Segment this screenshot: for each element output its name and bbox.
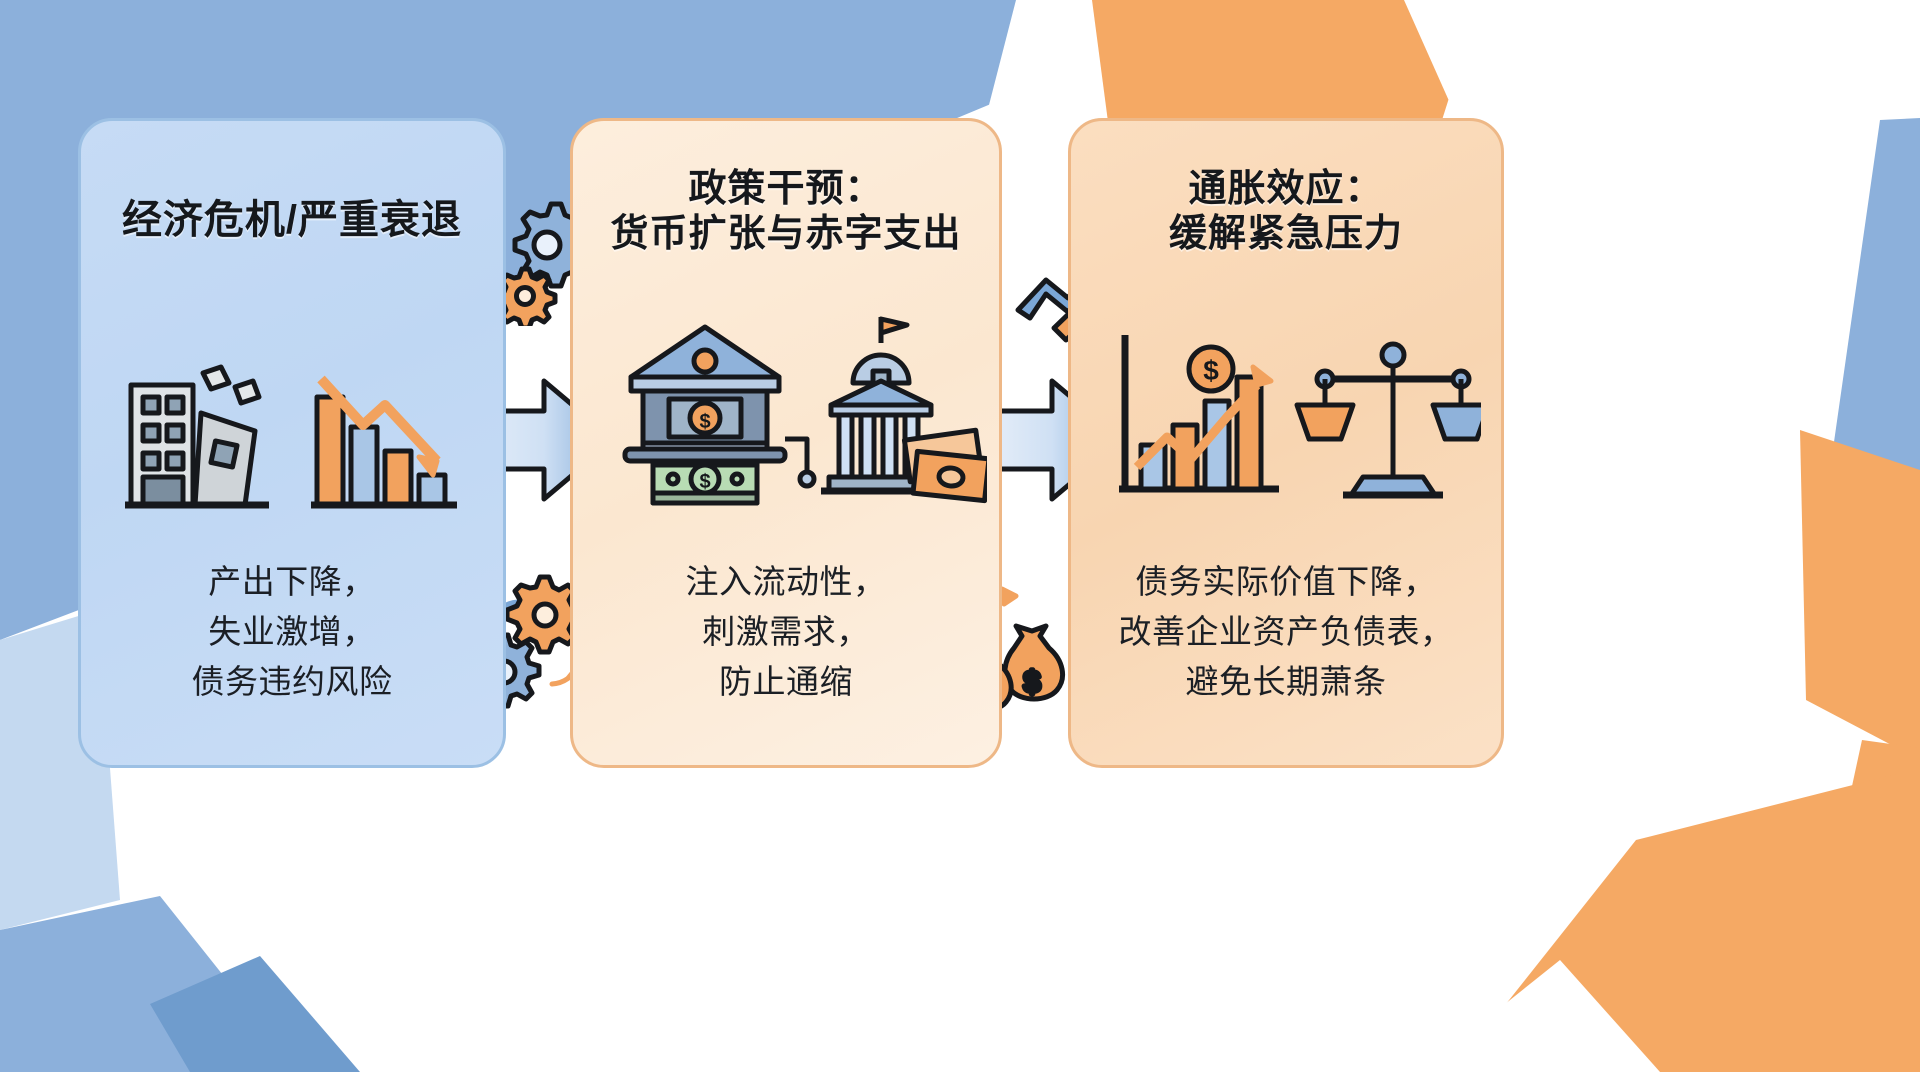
panel-inflation-title: 通胀效应： 缓解紧急压力 xyxy=(1071,167,1501,257)
svg-text:$: $ xyxy=(1203,355,1219,386)
policy-line-2: 刺激需求， xyxy=(573,607,999,657)
crisis-line-2: 失业激增， xyxy=(81,607,503,657)
collapsing-building-icon xyxy=(125,367,269,505)
panel-inflation-body: 债务实际价值下降， 改善企业资产负债表， 避免长期萧条 xyxy=(1071,557,1501,707)
crisis-line-3: 债务违约风险 xyxy=(81,657,503,707)
policy-line-1: 注入流动性， xyxy=(573,557,999,607)
policy-line-3: 防止通缩 xyxy=(573,657,999,707)
panel-policy: 政策干预： 货币扩张与赤字支出 $ $ xyxy=(570,118,1002,768)
svg-text:$: $ xyxy=(699,411,710,433)
panel-crisis: 经济危机/严重衰退 xyxy=(78,118,506,768)
panel-policy-title: 政策干预： 货币扩张与赤字支出 xyxy=(573,167,999,257)
panel-crisis-body: 产出下降， 失业激增， 债务违约风险 xyxy=(81,557,503,707)
panel-policy-title-line-2: 货币扩张与赤字支出 xyxy=(573,212,999,257)
inflation-line-2: 改善企业资产负债表， xyxy=(1071,607,1501,657)
panel-policy-body: 注入流动性， 刺激需求， 防止通缩 xyxy=(573,557,999,707)
crisis-icon-group xyxy=(117,339,477,539)
balance-scale-icon xyxy=(1297,344,1481,495)
infographic-canvas: $ $ 经济危机/严重衰退 xyxy=(0,0,1920,1072)
inflation-line-1: 债务实际价值下降， xyxy=(1071,557,1501,607)
panel-inflation: 通胀效应： 缓解紧急压力 $ xyxy=(1068,118,1504,768)
panel-inflation-title-line-2: 缓解紧急压力 xyxy=(1071,212,1501,257)
rising-bar-chart-icon: $ xyxy=(1119,335,1279,489)
svg-text:$: $ xyxy=(1024,666,1041,699)
svg-text:$: $ xyxy=(699,471,710,493)
cash-stack-icon xyxy=(904,430,987,500)
inflation-icon-group: $ xyxy=(1101,319,1481,529)
panel-policy-title-line-1: 政策干预： xyxy=(573,167,999,212)
panel-inflation-title-line-1: 通胀效应： xyxy=(1071,167,1501,212)
policy-icon-group: $ $ xyxy=(595,309,987,539)
inflation-line-3: 避免长期萧条 xyxy=(1071,657,1501,707)
crisis-line-1: 产出下降， xyxy=(81,557,503,607)
central-bank-icon: $ $ xyxy=(625,327,814,503)
panel-crisis-title: 经济危机/严重衰退 xyxy=(81,197,503,244)
declining-bar-chart-icon xyxy=(311,379,457,505)
